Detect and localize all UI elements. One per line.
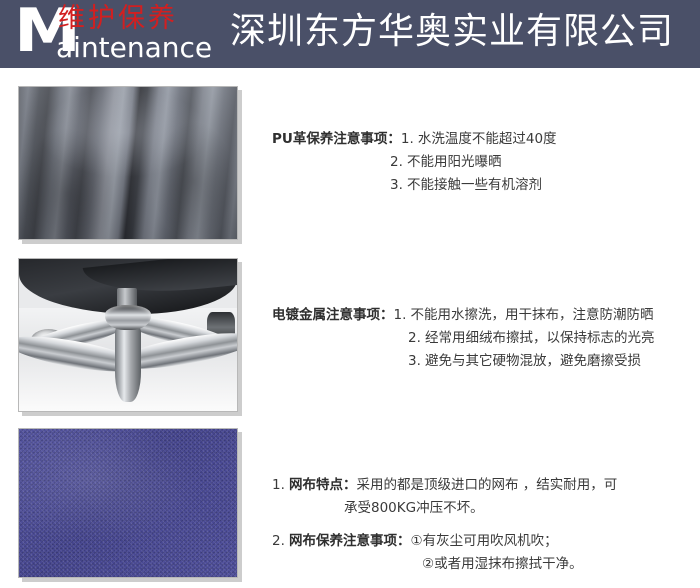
chrome-base-illustration (19, 259, 237, 411)
section-chrome-metal: 电镀金属注意事项：1.不能用水擦洗，用干抹布，注意防潮防晒 2.经常用细绒布擦拭… (0, 250, 700, 422)
mesh-block-2-label: 网布保养注意事项： (289, 533, 411, 549)
chrome-metal-label: 电镀金属注意事项： (272, 307, 394, 323)
chrome-metal-line-2: 2.经常用细绒布擦拭，以保持标志的光亮 (272, 327, 655, 350)
mesh-block-2-text-2: ②或者用湿抹布擦拭干净。 (422, 556, 583, 572)
page-content: PU革保养注意事项：1.水洗温度不能超过40度 2.不能用阳光曝晒 3.不能接触… (0, 68, 700, 588)
pu-leather-item-2-num: 2. (390, 151, 407, 174)
maintenance-logo: M 维护保养 aintenance (6, 0, 224, 68)
pu-leather-label: PU革保养注意事项： (272, 131, 401, 147)
blue-mesh-text: 1.网布特点：采用的都是顶级进口的网布 ，结实耐用，可 承受800KG冲压不坏。… (272, 474, 617, 576)
chrome-collar-ring (105, 305, 151, 331)
chrome-base-photo (18, 258, 238, 412)
mesh-block-2-num: 2. (272, 530, 289, 553)
pu-leather-line-2: 2.不能用阳光曝晒 (272, 151, 557, 174)
mesh-block-1-text-1: 采用的都是顶级进口的网布 ，结实耐用，可 (357, 477, 618, 493)
page-header: M 维护保养 aintenance 深圳东方华奥实业有限公司 (0, 0, 700, 68)
pu-leather-item-2-text: 不能用阳光曝晒 (407, 154, 502, 170)
blue-mesh-image-inner (19, 429, 237, 577)
pu-leather-line-3: 3.不能接触一些有机溶剂 (272, 174, 557, 197)
pu-leather-item-3-text: 不能接触一些有机溶剂 (407, 177, 542, 193)
chrome-metal-item-3-text: 避免与其它硬物混放，避免磨擦受损 (425, 353, 641, 369)
pu-leather-line-1: PU革保养注意事项：1.水洗温度不能超过40度 (272, 128, 557, 151)
pu-leather-image-inner (19, 87, 237, 239)
mesh-spacer (272, 520, 617, 530)
mesh-block-1-num: 1. (272, 474, 289, 497)
chrome-metal-item-1-num: 1. (394, 304, 411, 327)
mesh-block-2-text-1: ①有灰尘可用吹风机吹； (411, 533, 558, 549)
pu-leather-texture (19, 87, 237, 239)
logo-chinese-title: 维护保养 (58, 4, 178, 34)
section-blue-mesh: 1.网布特点：采用的都是顶级进口的网布 ，结实耐用，可 承受800KG冲压不坏。… (0, 422, 700, 588)
chrome-metal-item-1-text: 不能用水擦洗，用干抹布，注意防潮防晒 (411, 307, 654, 323)
mesh-block-2-line-1: 2.网布保养注意事项：①有灰尘可用吹风机吹； (272, 530, 617, 553)
section-pu-leather: PU革保养注意事项：1.水洗温度不能超过40度 2.不能用阳光曝晒 3.不能接触… (0, 80, 700, 250)
blue-mesh-photo (18, 428, 238, 578)
logo-english-title: aintenance (56, 33, 212, 63)
pu-leather-item-1-text: 水洗温度不能超过40度 (418, 131, 557, 147)
chrome-center-stem (115, 326, 141, 402)
chrome-metal-text: 电镀金属注意事项：1.不能用水擦洗，用干抹布，注意防潮防晒 2.经常用细绒布擦拭… (272, 304, 655, 373)
chrome-base-image-inner (19, 259, 237, 411)
mesh-block-1-line-1: 1.网布特点：采用的都是顶级进口的网布 ，结实耐用，可 (272, 474, 617, 497)
mesh-block-1-line-2: 承受800KG冲压不坏。 (272, 497, 617, 520)
chrome-metal-item-2-text: 经常用细绒布擦拭，以保持标志的光亮 (425, 330, 655, 346)
pu-leather-item-3-num: 3. (390, 174, 407, 197)
mesh-block-1-text-2: 承受800KG冲压不坏。 (344, 500, 484, 516)
mesh-block-1-label: 网布特点： (289, 477, 357, 493)
chrome-metal-item-3-num: 3. (408, 350, 425, 373)
blue-mesh-texture (19, 429, 237, 577)
mesh-block-2-line-2: ②或者用湿抹布擦拭干净。 (272, 553, 617, 576)
chrome-metal-item-2-num: 2. (408, 327, 425, 350)
pu-leather-photo (18, 86, 238, 240)
chrome-metal-line-3: 3.避免与其它硬物混放，避免磨擦受损 (272, 350, 655, 373)
company-name: 深圳东方华奥实业有限公司 (230, 8, 674, 56)
pu-leather-text: PU革保养注意事项：1.水洗温度不能超过40度 2.不能用阳光曝晒 3.不能接触… (272, 128, 557, 197)
pu-leather-item-1-num: 1. (401, 128, 418, 151)
chrome-metal-line-1: 电镀金属注意事项：1.不能用水擦洗，用干抹布，注意防潮防晒 (272, 304, 655, 327)
